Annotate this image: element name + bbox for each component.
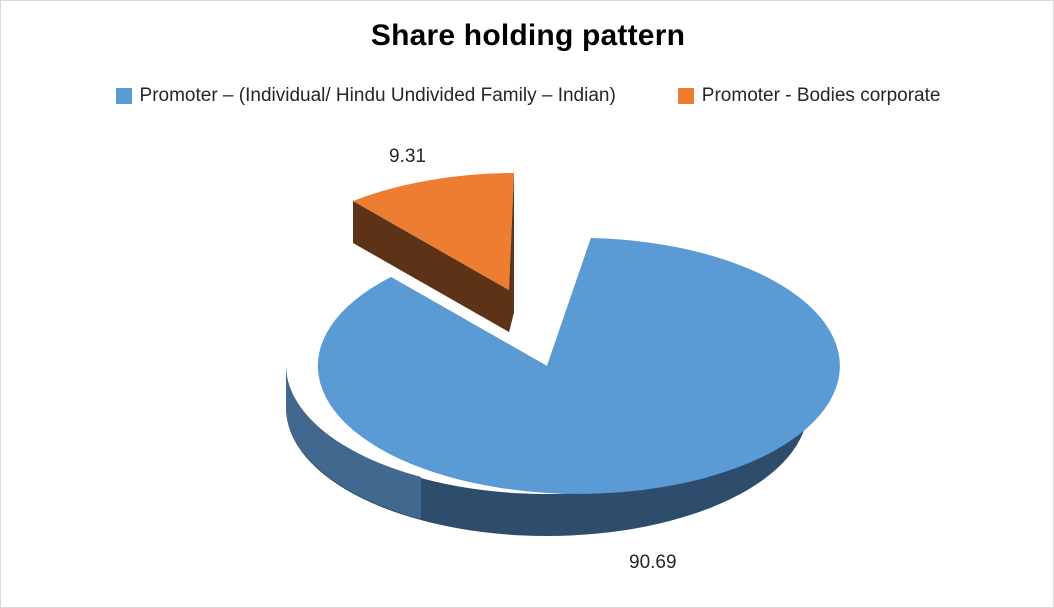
pie-chart-graphic (1, 1, 1054, 608)
chart-container: Share holding pattern Promoter – (Indivi… (0, 0, 1054, 608)
blue-slice-top-face (318, 238, 840, 494)
data-label-orange-slice: 9.31 (389, 146, 426, 168)
data-label-blue-slice: 90.69 (629, 552, 677, 574)
